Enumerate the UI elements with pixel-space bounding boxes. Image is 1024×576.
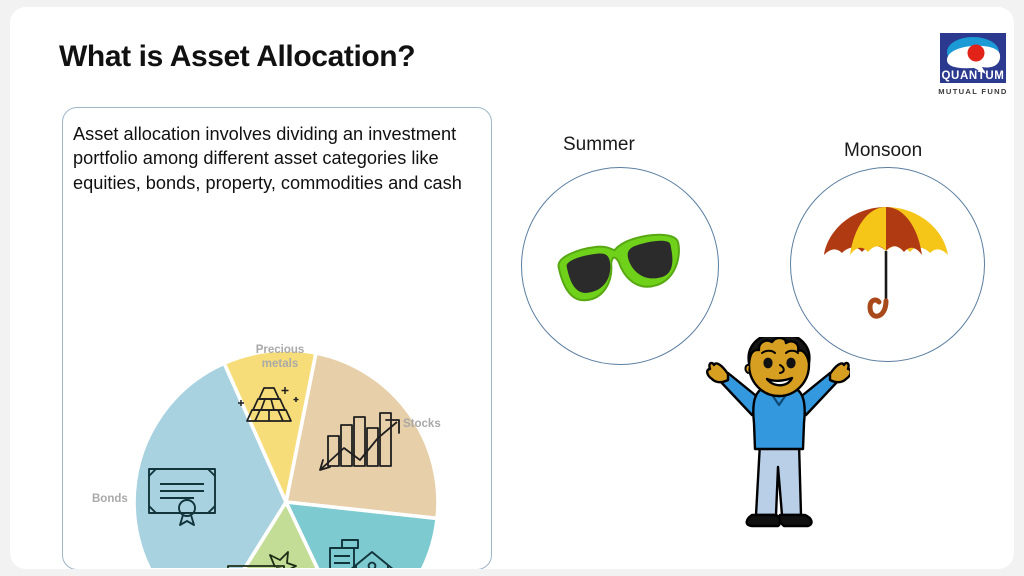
sunglasses-icon: [552, 222, 692, 317]
pie-label-bonds: Bonds: [92, 493, 128, 507]
slide-canvas: What is Asset Allocation? QUANTUM MUTUAL…: [10, 7, 1014, 569]
definition-card: Asset allocation involves dividing an in…: [62, 107, 492, 569]
summer-label: Summer: [563, 134, 635, 156]
quantum-mutual-fund-logo: QUANTUM MUTUAL FUND: [934, 31, 1012, 99]
monsoon-label: Monsoon: [844, 140, 922, 162]
asset-allocation-pie-chart: Precious metals Stocks Real estate Cash …: [63, 228, 493, 568]
pie-label-stocks: Stocks: [403, 418, 441, 432]
page-title: What is Asset Allocation?: [59, 40, 415, 74]
pie-label-precious-metals: Precious metals: [245, 344, 315, 371]
logo-brand-text: QUANTUM: [942, 70, 1005, 82]
logo-tagline-text: MUTUAL FUND: [938, 87, 1007, 96]
umbrella-icon: [816, 197, 956, 337]
definition-text: Asset allocation involves dividing an in…: [73, 122, 485, 195]
cheering-boy-illustration: [702, 337, 850, 540]
